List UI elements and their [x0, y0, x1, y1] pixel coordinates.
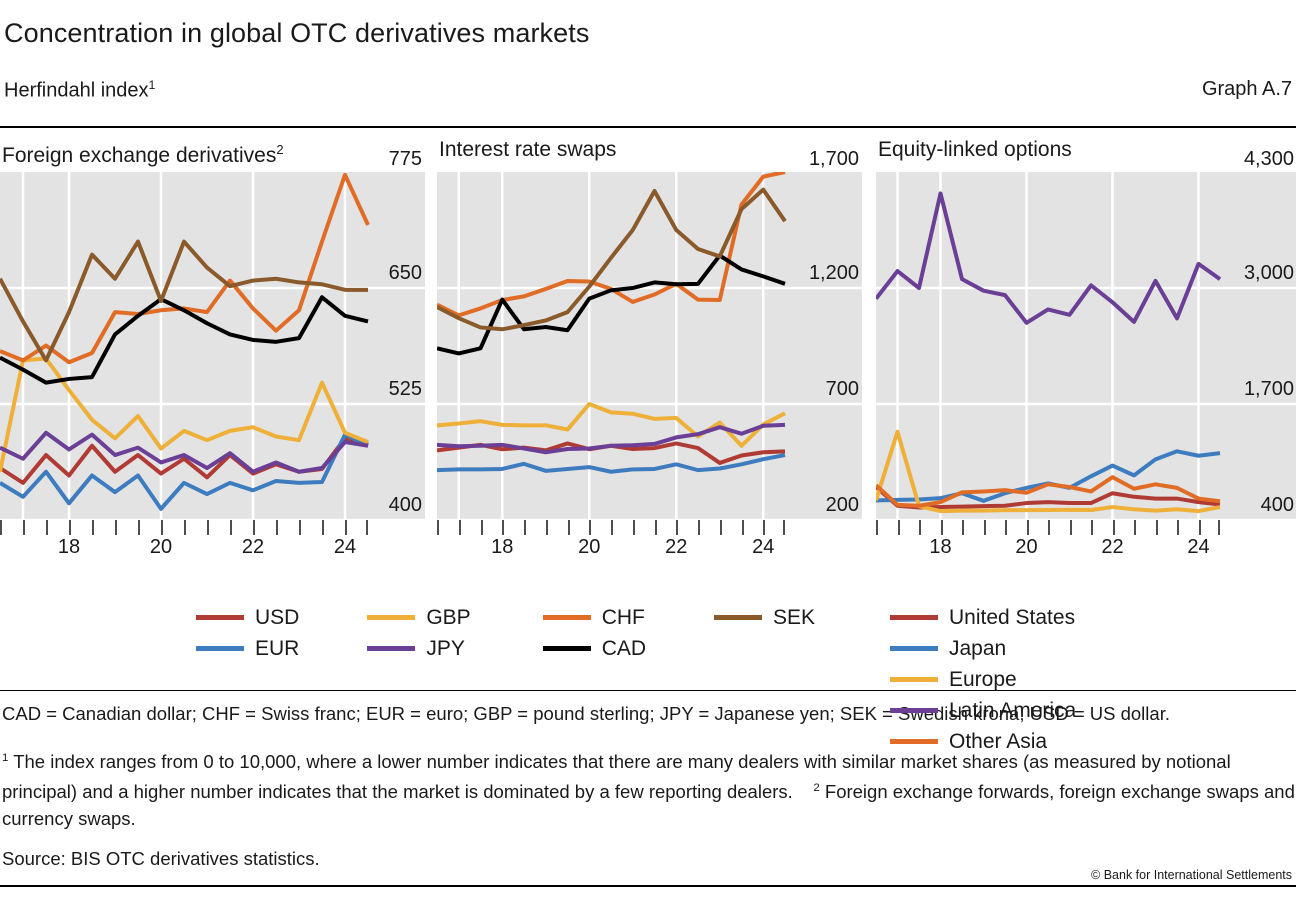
legend-item-chf[interactable]: CHF: [543, 602, 646, 633]
legend-item-united-states[interactable]: United States: [890, 602, 1075, 633]
x-axis-tick: [0, 520, 2, 535]
plot-svg-1: [0, 172, 425, 520]
x-axis-tick: [459, 520, 461, 535]
legend-label: SEK: [773, 606, 815, 630]
x-axis-tick: [184, 520, 186, 535]
x-tick-label: 18: [491, 536, 513, 559]
x-axis-tick: [763, 520, 765, 535]
x-axis-tick: [611, 520, 613, 535]
x-axis-tick: [546, 520, 548, 535]
footnote-2-marker: 2: [813, 782, 819, 794]
legend-item-sek[interactable]: SEK: [714, 602, 815, 633]
x-axis-tick: [345, 520, 347, 535]
x-axis-tick: [898, 520, 900, 535]
legend-item-gbp[interactable]: GBP: [367, 602, 470, 633]
graph-number: Graph A.7: [1202, 78, 1292, 101]
legend-label: Europe: [949, 668, 1017, 692]
plot-svg-2: [437, 172, 862, 520]
x-axis-tick: [322, 520, 324, 535]
x-axis-tick: [742, 520, 744, 535]
legend-currencies: USDEURGBPJPYCHFCADSEK: [196, 602, 815, 664]
x-axis-tick: [589, 520, 591, 535]
x-axis-tick: [1177, 520, 1179, 535]
x-axis-tick: [1048, 520, 1050, 535]
series-line-usd: [0, 438, 368, 483]
x-axis-tick: [698, 520, 700, 535]
x-axis-tick: [69, 520, 71, 535]
x-axis-tick: [676, 520, 678, 535]
series-line-latin-america: [876, 193, 1220, 322]
x-tick-label: 22: [1101, 536, 1123, 559]
x-axis-tick: [1091, 520, 1093, 535]
series-line-sek: [437, 190, 785, 330]
x-axis-tick: [1005, 520, 1007, 535]
chart-panel-2: Interest rate swaps2007001,2001,70018202…: [437, 136, 862, 564]
x-axis-tick: [783, 520, 785, 535]
series-line-chf: [437, 172, 785, 315]
legend-swatch-icon: [890, 677, 938, 682]
x-axis-tick: [941, 520, 943, 535]
legend-item-jpy[interactable]: JPY: [367, 633, 470, 664]
panel-title-footnote-marker: 2: [276, 142, 283, 157]
x-axis-tick: [481, 520, 483, 535]
x-tick-label: 24: [334, 536, 356, 559]
legend-column: Latin AmericaOther Asia: [890, 695, 1076, 757]
legend-item-japan[interactable]: Japan: [890, 633, 1075, 664]
x-axis-tick: [1218, 520, 1220, 535]
x-axis-tick: [524, 520, 526, 535]
legend-column: United StatesJapanEurope: [890, 602, 1075, 695]
legend-swatch-icon: [543, 615, 591, 620]
x-axis-tick: [1134, 520, 1136, 535]
legend-item-other-asia[interactable]: Other Asia: [890, 726, 1076, 757]
panel-title-text: Foreign exchange derivatives: [2, 144, 276, 167]
legend-label: CHF: [602, 606, 645, 630]
legend-swatch-icon: [367, 615, 415, 620]
x-axis-tick: [919, 520, 921, 535]
legend-swatch-icon: [890, 615, 938, 620]
legend-item-europe[interactable]: Europe: [890, 664, 1075, 695]
plot-area-3: 4001,7003,0004,300: [876, 172, 1296, 520]
x-tick-label: 22: [242, 536, 264, 559]
x-axis-tick: [1199, 520, 1201, 535]
panel-title-1: Foreign exchange derivatives2: [2, 136, 425, 164]
legend-column: GBPJPY: [367, 602, 470, 664]
x-axis-tick: [92, 520, 94, 535]
x-axis-tick: [437, 520, 439, 535]
page-title: Concentration in global OTC derivatives …: [4, 18, 589, 49]
plot-area-1: 400525650775: [0, 172, 425, 520]
x-axis-tick: [299, 520, 301, 535]
x-axis-1: 18202224: [0, 520, 425, 564]
x-tick-label: 24: [752, 536, 774, 559]
series-line-sek: [0, 242, 368, 361]
x-axis-tick: [23, 520, 25, 535]
legend-label: EUR: [255, 637, 299, 661]
legend-column: CHFCAD: [543, 602, 646, 664]
legend-item-cad[interactable]: CAD: [543, 633, 646, 664]
legend-swatch-icon: [890, 708, 938, 713]
x-tick-label: 20: [578, 536, 600, 559]
legend-item-latin-america[interactable]: Latin America: [890, 695, 1076, 726]
copyright-note: © Bank for International Settlements: [1091, 868, 1292, 882]
legend-label: USD: [255, 606, 299, 630]
legend-label: CAD: [602, 637, 646, 661]
panel-title-text: Interest rate swaps: [439, 138, 616, 161]
legend-swatch-icon: [367, 646, 415, 651]
legend-swatch-icon: [714, 615, 762, 620]
chart-panel-3: Equity-linked options4001,7003,0004,3001…: [876, 136, 1296, 564]
x-axis-tick: [207, 520, 209, 535]
x-axis-tick: [46, 520, 48, 535]
legend-item-eur[interactable]: EUR: [196, 633, 299, 664]
x-axis-tick: [1156, 520, 1158, 535]
footnotes-note: 1 The index ranges from 0 to 10,000, whe…: [2, 745, 1296, 832]
x-tick-label: 20: [150, 536, 172, 559]
x-axis-tick: [984, 520, 986, 535]
footnote-1-marker: 1: [2, 752, 8, 764]
legend-label: Japan: [949, 637, 1006, 661]
legend-swatch-icon: [890, 646, 938, 651]
x-axis-2: 18202224: [437, 520, 862, 564]
x-tick-label: 18: [58, 536, 80, 559]
chart-panel-1: Foreign exchange derivatives240052565077…: [0, 136, 425, 564]
x-axis-tick: [1113, 520, 1115, 535]
bottom-rule: [0, 885, 1296, 887]
x-axis-tick: [502, 520, 504, 535]
x-axis-tick: [633, 520, 635, 535]
x-tick-label: 22: [665, 536, 687, 559]
legend-label: Latin America: [949, 699, 1076, 723]
panel-title-2: Interest rate swaps: [439, 136, 862, 164]
series-line-japan: [876, 451, 1220, 501]
legend-label: GBP: [426, 606, 470, 630]
plot-area-2: 2007001,2001,700: [437, 172, 862, 520]
legend-swatch-icon: [890, 739, 938, 744]
legend-column: USDEUR: [196, 602, 299, 664]
legend-swatch-icon: [196, 646, 244, 651]
legend-column: SEK: [714, 602, 815, 664]
series-line-jpy: [0, 433, 368, 472]
panel-title-3: Equity-linked options: [878, 136, 1296, 164]
x-axis-tick: [655, 520, 657, 535]
legend-label: United States: [949, 606, 1075, 630]
panel-title-text: Equity-linked options: [878, 138, 1072, 161]
header-divider: [0, 126, 1296, 128]
series-line-chf: [0, 175, 368, 362]
graph-page: Concentration in global OTC derivatives …: [0, 0, 1296, 900]
x-axis-tick: [276, 520, 278, 535]
series-line-gbp: [437, 404, 785, 446]
x-tick-label: 18: [929, 536, 951, 559]
legend-label: Other Asia: [949, 730, 1047, 754]
x-axis-tick: [138, 520, 140, 535]
plot-svg-3: [876, 172, 1296, 520]
x-axis-tick: [1070, 520, 1072, 535]
x-axis-tick: [115, 520, 117, 535]
x-axis-tick: [1027, 520, 1029, 535]
page-subtitle: Herfindahl index1: [4, 78, 155, 103]
x-axis-tick: [230, 520, 232, 535]
x-axis-tick: [720, 520, 722, 535]
x-axis-tick: [876, 520, 878, 535]
legend-item-usd[interactable]: USD: [196, 602, 299, 633]
legend-regions: United StatesJapanEuropeLatin AmericaOth…: [890, 602, 1296, 757]
legend-swatch-icon: [543, 646, 591, 651]
x-axis-tick: [568, 520, 570, 535]
subtitle-footnote-marker: 1: [149, 78, 156, 92]
x-axis-tick: [366, 520, 368, 535]
x-axis-tick: [962, 520, 964, 535]
x-axis-3: 18202224: [876, 520, 1296, 564]
x-axis-tick: [253, 520, 255, 535]
x-axis-tick: [161, 520, 163, 535]
x-tick-label: 24: [1187, 536, 1209, 559]
x-tick-label: 20: [1015, 536, 1037, 559]
legend-swatch-icon: [196, 615, 244, 620]
legend-label: JPY: [426, 637, 465, 661]
